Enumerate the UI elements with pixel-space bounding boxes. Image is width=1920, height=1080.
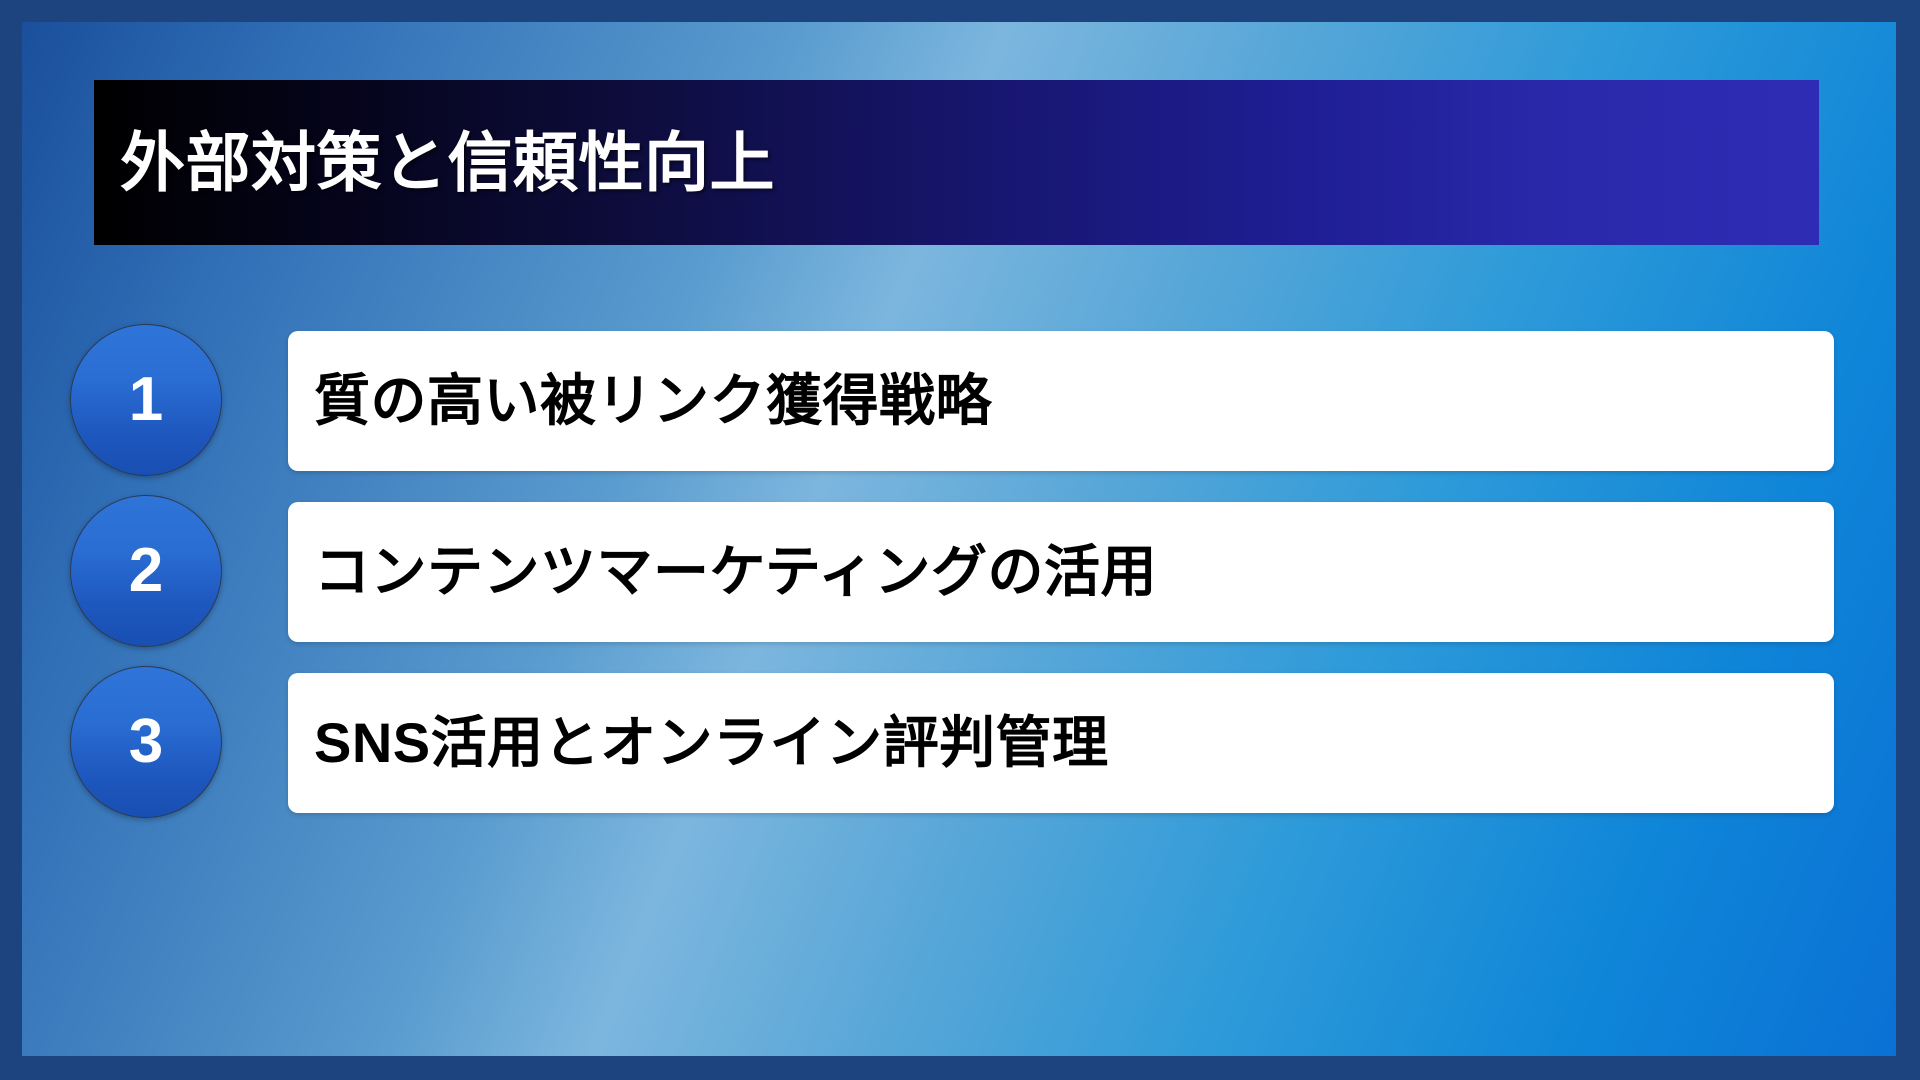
content-card-1[interactable]: 質の高い被リンク獲得戦略 <box>288 331 1834 471</box>
content-card-2[interactable]: コンテンツマーケティングの活用 <box>288 502 1834 642</box>
step-number-badge-3: 3 <box>70 666 222 818</box>
step-number-label: 2 <box>129 540 163 602</box>
content-card-label: SNS活用とオンライン評判管理 <box>314 715 1109 771</box>
step-number-badge-2: 2 <box>70 495 222 647</box>
slide-title-bar: 外部対策と信頼性向上 <box>94 80 1819 245</box>
list-item[interactable]: 1 質の高い被リンク獲得戦略 <box>22 324 1896 476</box>
list-item[interactable]: 2 コンテンツマーケティングの活用 <box>22 495 1896 647</box>
step-number-label: 3 <box>129 711 163 773</box>
list-item[interactable]: 3 SNS活用とオンライン評判管理 <box>22 666 1896 818</box>
step-number-label: 1 <box>129 369 163 431</box>
step-number-badge-1: 1 <box>70 324 222 476</box>
page-title: 外部対策と信頼性向上 <box>120 130 775 195</box>
slide-canvas: 外部対策と信頼性向上 1 質の高い被リンク獲得戦略 2 コンテンツマーケティング… <box>22 22 1896 1056</box>
content-card-label: 質の高い被リンク獲得戦略 <box>314 373 992 429</box>
content-card-3[interactable]: SNS活用とオンライン評判管理 <box>288 673 1834 813</box>
slide-frame: 外部対策と信頼性向上 1 質の高い被リンク獲得戦略 2 コンテンツマーケティング… <box>0 0 1920 1080</box>
content-card-label: コンテンツマーケティングの活用 <box>314 544 1157 600</box>
